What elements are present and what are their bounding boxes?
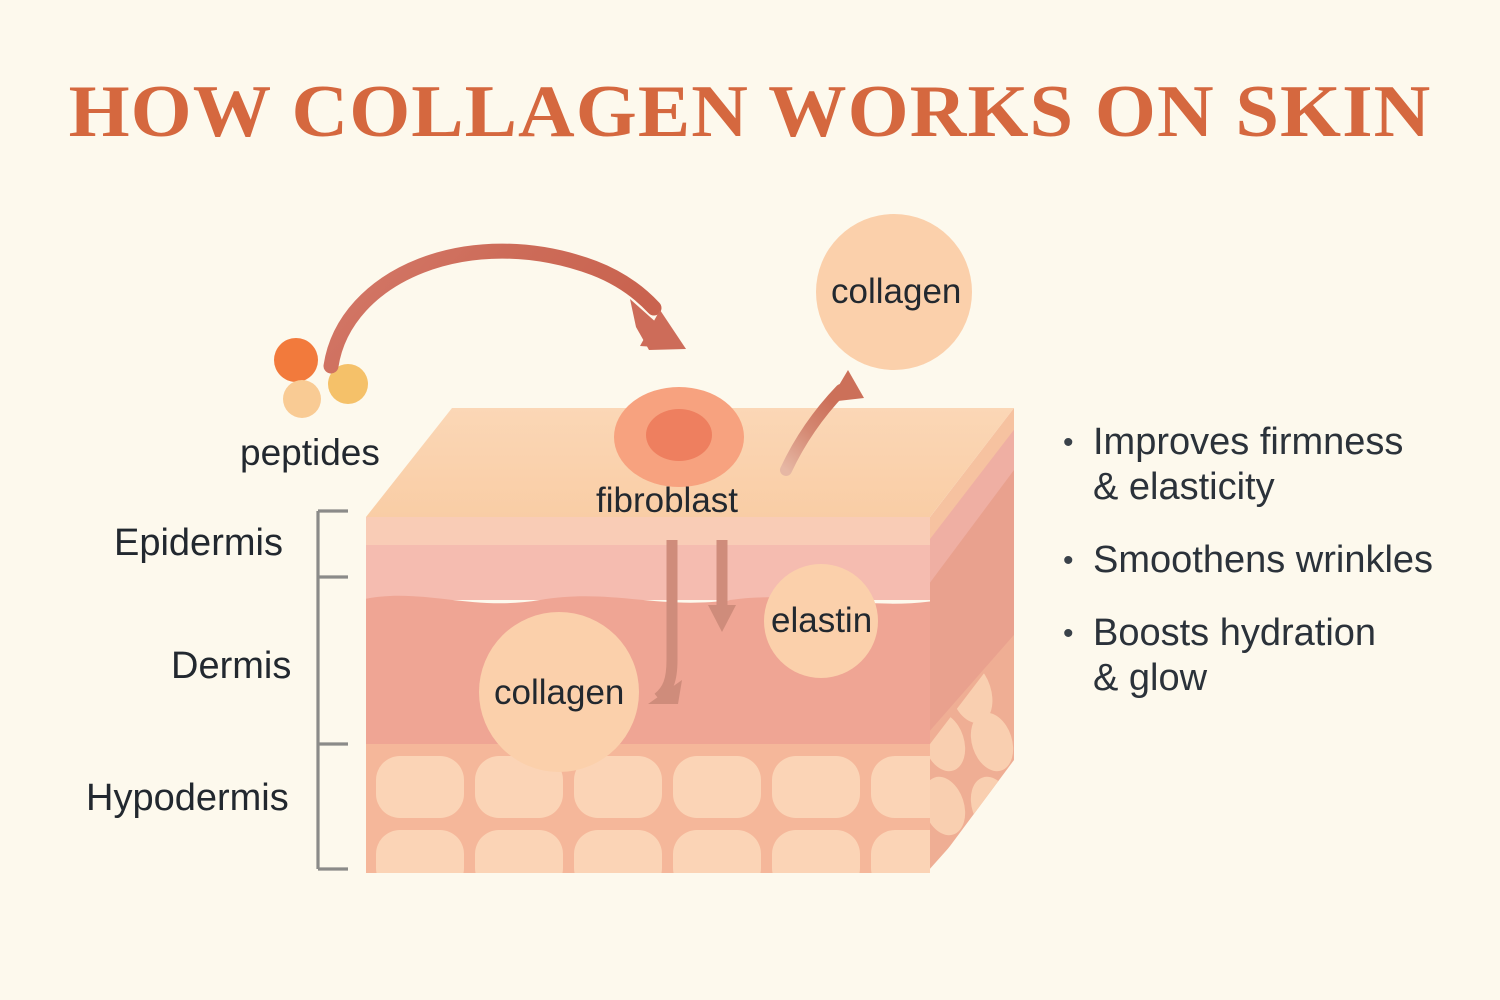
label-collagen-dermis: collagen bbox=[494, 673, 624, 713]
fibroblast-cell bbox=[614, 387, 744, 487]
list-item: • Boosts hydration& glow bbox=[1063, 611, 1483, 701]
bullet-icon: • bbox=[1063, 538, 1093, 583]
layer-label-dermis: Dermis bbox=[171, 645, 291, 688]
layer-brackets bbox=[318, 511, 348, 869]
benefit-text: Improves firmness& elasticity bbox=[1093, 420, 1403, 510]
layer-label-hypodermis: Hypodermis bbox=[86, 777, 289, 820]
benefit-text: Smoothens wrinkles bbox=[1093, 538, 1433, 583]
peptide-dot-dark bbox=[274, 338, 318, 382]
peptide-dot-light bbox=[283, 380, 321, 418]
peptides-to-skin-arrow bbox=[331, 251, 686, 366]
label-fibroblast: fibroblast bbox=[596, 481, 738, 521]
label-collagen-released: collagen bbox=[831, 272, 961, 312]
list-item: • Improves firmness& elasticity bbox=[1063, 420, 1483, 510]
list-item: • Smoothens wrinkles bbox=[1063, 538, 1483, 583]
benefit-text: Boosts hydration& glow bbox=[1093, 611, 1376, 701]
infographic-canvas: HOW COLLAGEN WORKS ON SKIN bbox=[0, 0, 1500, 1000]
peptide-dots bbox=[274, 338, 368, 418]
layer-label-epidermis: Epidermis bbox=[114, 522, 283, 565]
front-epidermis-upper bbox=[360, 517, 940, 545]
label-peptides: peptides bbox=[240, 432, 380, 474]
benefits-list: • Improves firmness& elasticity • Smooth… bbox=[1063, 420, 1483, 729]
bullet-icon: • bbox=[1063, 420, 1093, 465]
skin-front-face bbox=[360, 505, 940, 879]
fibroblast-nucleus bbox=[646, 409, 712, 461]
label-elastin-dermis: elastin bbox=[771, 601, 872, 641]
bullet-icon: • bbox=[1063, 611, 1093, 656]
